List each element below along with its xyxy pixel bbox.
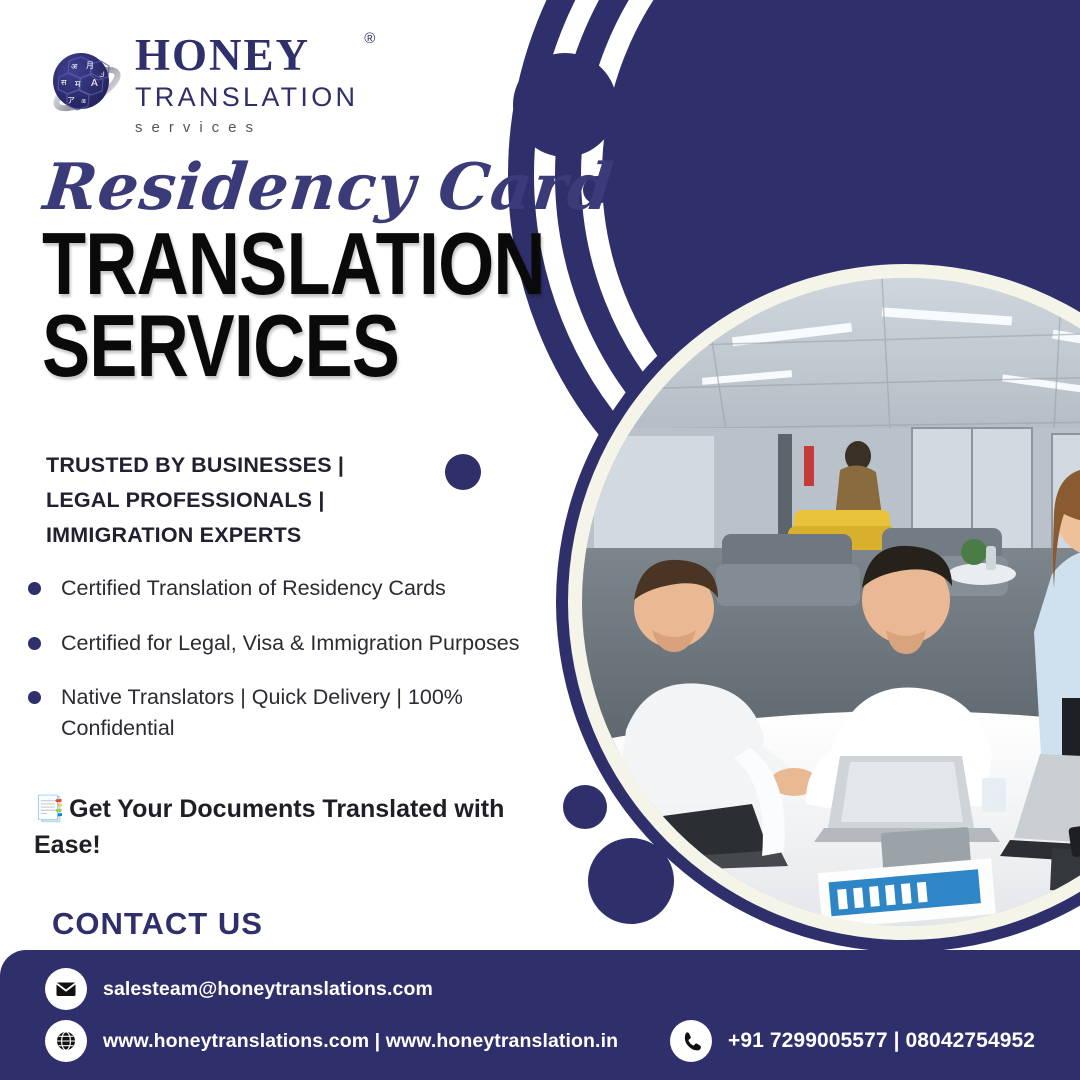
bullet-dot-icon [28, 637, 41, 650]
svg-text:म: म [75, 80, 81, 90]
contact-website-text: www.honeytranslations.com | www.honeytra… [103, 1030, 618, 1053]
logo-honey-text: HONEY® [135, 33, 358, 78]
contact-phone-text: +91 7299005577 | 08042754952 [728, 1029, 1035, 1053]
subtitle-block: TRUSTED BY BUSINESSES | LEGAL PROFESSION… [46, 448, 344, 552]
document-page-icon: 📑 [34, 795, 65, 823]
contact-website-row[interactable]: www.honeytranslations.com | www.honeytra… [45, 1020, 618, 1062]
svg-text:月: 月 [86, 61, 94, 70]
headline-line-2: SERVICES [42, 305, 545, 387]
contact-email-text: salesteam@honeytranslations.com [103, 978, 433, 1001]
headline-line-1: TRANSLATION [42, 223, 545, 305]
feature-list: Certified Translation of Residency Cards… [28, 573, 548, 767]
contact-footer-bar: salesteam@honeytranslations.com www.hone… [0, 950, 1080, 1080]
subtitle-line-2: LEGAL PROFESSIONALS | [46, 483, 344, 518]
list-item-label: Certified for Legal, Visa & Immigration … [61, 628, 519, 659]
svg-text:अ: अ [71, 62, 78, 71]
svg-text:स: स [61, 78, 67, 87]
brand-logo[interactable]: अ 月 स म A ア ഭ ك HONEY® TRANSLATION servi… [47, 33, 358, 135]
svg-text:A: A [91, 78, 98, 89]
list-item-label: Certified Translation of Residency Cards [61, 573, 446, 604]
bullet-dot-icon [28, 691, 41, 704]
contact-email-row[interactable]: salesteam@honeytranslations.com [45, 968, 433, 1010]
svg-text:ഭ: ഭ [81, 97, 86, 105]
list-item-label: Native Translators | Quick Delivery | 10… [61, 682, 548, 743]
subtitle-line-3: IMMIGRATION EXPERTS [46, 518, 344, 553]
phone-icon [670, 1020, 712, 1062]
svg-text:ك: ك [99, 71, 105, 79]
team-meeting-photo [582, 278, 1080, 926]
globe-icon [45, 1020, 87, 1062]
subtitle-line-1: TRUSTED BY BUSINESSES | [46, 448, 344, 483]
svg-text:ア: ア [67, 96, 75, 105]
logo-services-text: services [135, 120, 358, 135]
multilingual-globe-icon: अ 月 स म A ア ഭ ك [47, 47, 121, 121]
envelope-icon [45, 968, 87, 1010]
list-item: Certified Translation of Residency Cards [28, 573, 548, 604]
decorative-circle-mid [445, 454, 481, 490]
list-item: Native Translators | Quick Delivery | 10… [28, 682, 548, 743]
photo-circle-frame [556, 252, 1080, 952]
registered-trademark-icon: ® [364, 31, 377, 46]
list-item: Certified for Legal, Visa & Immigration … [28, 628, 548, 659]
main-headline: TRANSLATION SERVICES [42, 223, 545, 387]
call-to-action: 📑Get Your Documents Translated with Ease… [34, 792, 534, 863]
contact-us-heading: CONTACT US [52, 906, 263, 942]
contact-phone-row[interactable]: +91 7299005577 | 08042754952 [670, 1020, 1035, 1062]
poster-canvas: अ 月 स म A ア ഭ ك HONEY® TRANSLATION servi… [0, 0, 1080, 1080]
logo-translation-text: TRANSLATION [135, 84, 358, 111]
call-to-action-label: Get Your Documents Translated with Ease! [34, 795, 504, 859]
logo-wordmark: HONEY® TRANSLATION services [135, 33, 358, 135]
bullet-dot-icon [28, 582, 41, 595]
decorative-circle-large [513, 53, 617, 157]
